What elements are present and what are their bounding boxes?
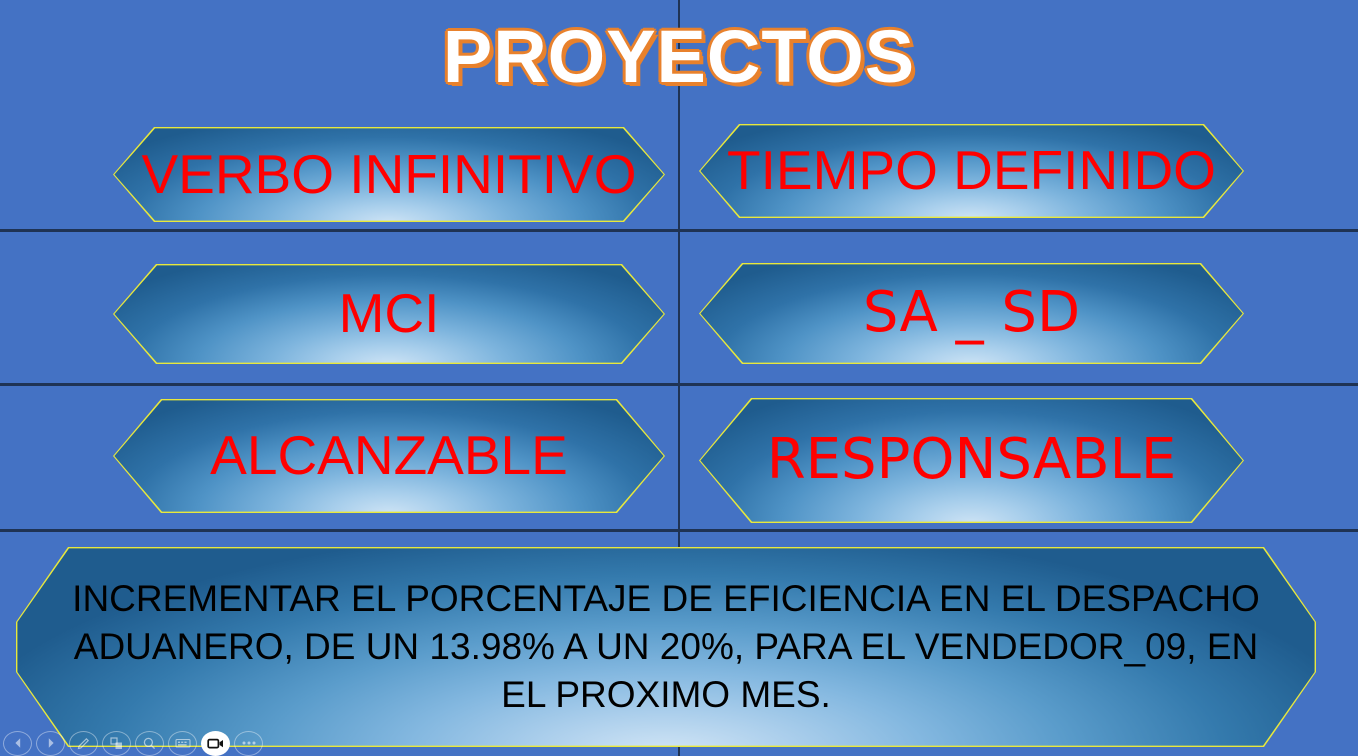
grid-line-horizontal-1 bbox=[0, 229, 1358, 232]
camera-button[interactable] bbox=[201, 731, 230, 756]
previous-slide-icon bbox=[11, 736, 25, 750]
criterion-label: MCI bbox=[339, 285, 440, 343]
criterion-shape-mci[interactable]: MCI bbox=[113, 264, 665, 364]
pen-icon bbox=[76, 736, 91, 751]
grid-line-horizontal-2 bbox=[0, 383, 1358, 386]
pen-tool-button[interactable] bbox=[69, 731, 98, 756]
criterion-shape-verbo-infinitivo[interactable]: VERBO INFINITIVO bbox=[113, 127, 665, 222]
criterion-label: SA _ SD bbox=[863, 284, 1080, 343]
slide-layout-icon bbox=[109, 736, 124, 751]
next-slide-button[interactable] bbox=[36, 731, 65, 756]
criterion-shape-tiempo-definido[interactable]: TIEMPO DEFINIDO bbox=[699, 124, 1244, 218]
objective-statement-shape[interactable]: INCREMENTAR EL PORCENTAJE DE EFICIENCIA … bbox=[16, 547, 1316, 747]
keyboard-icon bbox=[175, 737, 191, 749]
subtitles-button[interactable] bbox=[168, 731, 197, 756]
criterion-shape-alcanzable[interactable]: ALCANZABLE bbox=[113, 399, 665, 513]
more-options-button[interactable] bbox=[234, 731, 263, 756]
slide-layout-button[interactable] bbox=[102, 731, 131, 756]
grid-line-horizontal-3 bbox=[0, 529, 1358, 532]
criterion-label: TIEMPO DEFINIDO bbox=[727, 142, 1216, 200]
presentation-toolbar[interactable] bbox=[0, 730, 263, 756]
previous-slide-button[interactable] bbox=[3, 731, 32, 756]
criterion-shape-sa-sd[interactable]: SA _ SD bbox=[699, 263, 1244, 364]
presentation-slide: PROYECTOS VERBO INFINITIVO TIEMPO DEFINI… bbox=[0, 0, 1358, 756]
objective-statement-text: INCREMENTAR EL PORCENTAJE DE EFICIENCIA … bbox=[16, 575, 1316, 719]
magnifier-icon bbox=[142, 736, 157, 751]
page-title: PROYECTOS bbox=[0, 14, 1358, 99]
zoom-button[interactable] bbox=[135, 731, 164, 756]
criterion-label: ALCANZABLE bbox=[210, 427, 568, 485]
criterion-label: RESPONSABLE bbox=[767, 431, 1176, 490]
criterion-label: VERBO INFINITIVO bbox=[141, 146, 636, 204]
more-options-icon bbox=[241, 740, 257, 746]
next-slide-icon bbox=[44, 736, 58, 750]
video-camera-icon bbox=[207, 737, 225, 750]
criterion-shape-responsable[interactable]: RESPONSABLE bbox=[699, 398, 1244, 523]
